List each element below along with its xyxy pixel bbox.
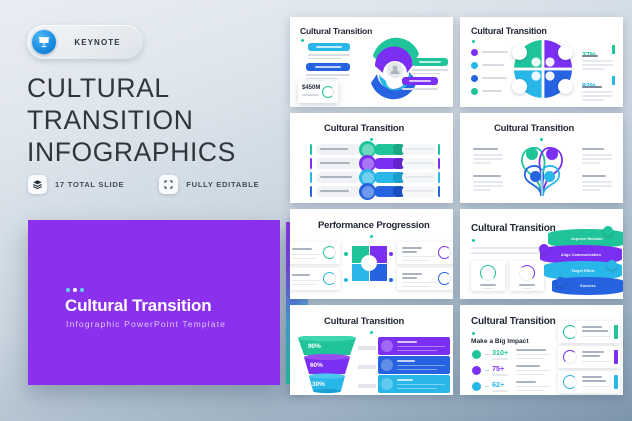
row-tick-2 (310, 158, 312, 169)
funnel-card-2 (378, 356, 450, 374)
layer-chip-icon-4 (556, 277, 566, 287)
slide-thumb-swoosh[interactable]: Cultural Transition (290, 17, 453, 107)
stat-label-3 (516, 381, 536, 383)
perf-ring-4 (438, 272, 451, 285)
petal-desc-2b (582, 158, 612, 160)
stat-unit-3 (492, 390, 508, 392)
home-icon (526, 148, 538, 160)
pill-text-1 (316, 46, 342, 48)
stat-dash-1 (485, 354, 489, 355)
perf-desc-2a (292, 280, 320, 281)
legend-label-1 (482, 51, 508, 53)
send-icon (530, 171, 541, 182)
perf-desc-1a (292, 254, 320, 255)
perf-desc-2b (292, 284, 316, 285)
accent-dot (472, 40, 475, 43)
stat-desc-3a (516, 386, 550, 387)
slide-title: Cultural Transition (494, 123, 574, 134)
perf-connector-dot-2 (344, 278, 348, 282)
layer-chip-icon-1 (603, 226, 613, 236)
row-tick-end-3 (438, 172, 440, 183)
funnel-arrow-2 (358, 365, 376, 369)
stat-bar-1 (612, 45, 615, 54)
feature-badges: 17 TOTAL SLIDE FULLY EDITABLE (28, 175, 259, 194)
funnel-chart (296, 336, 358, 394)
pill-text-4 (409, 80, 431, 82)
layer-chip-icon-3 (607, 260, 617, 270)
row-tick-4 (310, 186, 312, 197)
stat-label-1 (516, 349, 546, 351)
perf-card-left-2 (290, 268, 340, 290)
legend-label-3 (482, 77, 507, 79)
petal-title-4 (582, 175, 606, 177)
stat-dash-3 (485, 386, 489, 387)
legend-dot-3 (471, 75, 478, 82)
impact-label-3a (582, 376, 602, 378)
impact-ring-2 (563, 350, 577, 364)
row-label-1 (320, 148, 348, 150)
kpi-ring (322, 86, 334, 98)
petal-desc-3a (473, 181, 503, 183)
hero-title: Cultural Transition (65, 296, 211, 316)
hero-subtitle: Infographic PowerPoint Template (66, 319, 226, 329)
petal-tree-diagram (512, 140, 572, 198)
stat-label-2 (516, 365, 540, 367)
row-icon-inner-4 (362, 186, 374, 198)
stat-desc-2b (516, 374, 544, 375)
row-icon-inner-1 (362, 144, 374, 156)
perf-card-right-2 (397, 268, 453, 290)
accent-dot (370, 235, 373, 238)
petal-desc-4a (582, 181, 612, 183)
keynote-app-icon (32, 30, 56, 54)
perf-connector-dot-1 (344, 252, 348, 256)
row-tick-end-2 (438, 158, 440, 169)
impact-sub-2 (582, 361, 610, 362)
slide-thumbnail-grid: Cultural Transition (290, 17, 624, 401)
perf-card-left-1 (290, 242, 340, 264)
funnel-card-label-3 (397, 379, 413, 381)
funnel-value-2: 60% (310, 362, 323, 369)
perf-desc-1b (292, 258, 316, 259)
row-desc-1 (404, 148, 434, 150)
stat-unit-1 (492, 358, 508, 360)
stat-bar-2 (612, 76, 615, 85)
body-text-2 (471, 252, 539, 254)
perf-label-4a (402, 273, 422, 275)
row-icon-inner-2 (362, 158, 374, 170)
impact-label-3b (582, 380, 606, 382)
feature-editable: FULLY EDITABLE (159, 175, 259, 194)
gauge-sub-2 (522, 288, 532, 289)
slide-row-1: Cultural Transition (290, 17, 624, 107)
row-label-2 (320, 162, 350, 164)
perf-card-right-1 (397, 242, 453, 264)
send-icon (472, 382, 481, 391)
row-desc-4 (404, 190, 434, 192)
page-title: CULTURAL TRANSITION INFOGRAPHICS (27, 72, 277, 168)
globe-icon (472, 350, 481, 359)
impact-tab-2 (614, 350, 618, 364)
petal-label-4 (582, 175, 606, 177)
caption-1b (308, 58, 342, 60)
stat-desc-3b (516, 390, 544, 391)
feature-editable-label: FULLY EDITABLE (186, 180, 259, 189)
impact-sub-3 (582, 386, 610, 387)
row-tick-end-1 (438, 144, 440, 155)
slide-thumb-chevron-list[interactable]: Cultural Transition (290, 113, 453, 203)
stat-label-1 (582, 55, 598, 57)
stat-dash-2 (485, 370, 489, 371)
stat-desc-1b (516, 358, 544, 359)
funnel-arrow-1 (358, 346, 376, 350)
pill-text-3 (419, 61, 441, 63)
perf-desc-3a (402, 256, 436, 257)
stat-value-3: 62+ (492, 380, 504, 389)
hero-cover-card: Cultural Transition Infographic PowerPoi… (28, 220, 280, 385)
slide-thumb-quad-pie[interactable]: Cultural Transition (460, 17, 623, 107)
stat-desc-1c (582, 68, 604, 70)
stat-desc-2a (516, 370, 550, 371)
petal-title-1 (473, 148, 498, 150)
funnel-card-desc-1a (397, 346, 445, 347)
petal-desc-1b (473, 158, 503, 160)
legend-dot-4 (471, 88, 478, 95)
quad-value-ring-3 (512, 79, 527, 94)
feature-slide-count: 17 TOTAL SLIDE (28, 175, 124, 194)
gauge-ring-1 (480, 265, 496, 281)
stat-desc-2b (582, 95, 613, 97)
gauge-label-1 (480, 284, 496, 286)
slide-thumb-impact[interactable]: Cultural Transition Make a Big Impact 31… (460, 305, 623, 395)
accent-dot (301, 39, 304, 42)
petal-label-1 (473, 148, 498, 150)
stat-value-1: 310+ (492, 348, 508, 357)
stat-block-2: 92% (582, 75, 596, 93)
target-icon (381, 340, 393, 352)
perf-ring-3 (438, 246, 451, 259)
slide-thumb-petal-tree[interactable]: Cultural Transition (460, 113, 623, 203)
row-tick-end-4 (438, 186, 440, 197)
stat-desc-2c (582, 99, 604, 101)
body-text-1 (471, 247, 543, 249)
funnel-card-desc-3b (397, 388, 437, 389)
perf-label-2 (292, 274, 310, 276)
promo-panel: KEYNOTE CULTURAL TRANSITION INFOGRAPHICS… (0, 0, 290, 421)
slide-row-4: Cultural Transition 90% 60% 30% (290, 305, 624, 395)
caption-2b (306, 78, 338, 80)
funnel-card-desc-3a (397, 384, 445, 385)
send-icon (381, 359, 393, 371)
impact-label-2a (582, 351, 604, 353)
slide-thumb-performance[interactable]: Performance Progression (290, 209, 453, 299)
funnel-card-desc-2b (397, 369, 437, 370)
impact-card-2 (558, 346, 620, 368)
hero-dots-decoration (66, 288, 84, 292)
keynote-badge-label: KEYNOTE (56, 38, 143, 47)
petal-label-2 (582, 148, 604, 150)
layer-chip-icon-2 (539, 244, 549, 254)
feature-slide-count-label: 17 TOTAL SLIDE (55, 180, 124, 189)
stat-unit-2 (492, 374, 508, 376)
title-line-3: INFOGRAPHICS (27, 136, 277, 168)
row-label-3 (320, 176, 352, 178)
slide-title: Cultural Transition (471, 26, 547, 36)
impact-ring-1 (563, 325, 577, 339)
funnel-card-3 (378, 375, 450, 393)
gauge-card-2 (510, 261, 544, 291)
petal-title-2 (582, 148, 604, 150)
layers-stack-icon (28, 175, 47, 194)
legend-label-4 (482, 90, 502, 92)
slide-row-3: Performance Progression (290, 209, 624, 299)
impact-label-2b (582, 355, 600, 357)
accent-dot (370, 331, 373, 334)
keynote-badge: KEYNOTE (27, 25, 143, 59)
petal-desc-3b (473, 185, 503, 187)
impact-tab-3 (614, 375, 618, 389)
impact-sub-1 (582, 336, 610, 337)
stat-desc-1b (582, 64, 613, 66)
petal-desc-4c (582, 189, 600, 191)
caption-4a (402, 88, 438, 90)
quad-value-ring-4 (558, 79, 573, 94)
funnel-card-desc-2a (397, 365, 445, 366)
impact-tab-1 (614, 325, 618, 339)
row-desc-3 (404, 176, 434, 178)
perf-desc-4b (402, 286, 430, 287)
perf-label-4b (402, 277, 417, 279)
slide-title: Cultural Transition (471, 316, 556, 327)
stat-block-1: 27% (582, 44, 596, 62)
stat-value-2: 75+ (492, 364, 504, 373)
refresh-icon (381, 378, 393, 390)
kpi-value: $450M (302, 85, 320, 91)
petal-desc-4b (582, 185, 612, 187)
slide-thumb-stacked-layers[interactable]: Cultural Transition Improve Relation Ali… (460, 209, 623, 299)
row-desc-2 (404, 162, 434, 164)
perf-ring-2 (323, 272, 336, 285)
petal-desc-2c (582, 162, 600, 164)
petal-title-3 (473, 175, 501, 177)
gauge-ring-2 (519, 265, 535, 281)
funnel-value-1: 90% (308, 343, 321, 350)
slide-thumb-funnel[interactable]: Cultural Transition 90% 60% 30% (290, 305, 453, 395)
petal-desc-2a (582, 154, 612, 156)
perf-desc-4a (402, 282, 436, 283)
perf-desc-3b (402, 260, 430, 261)
kpi-caption (302, 94, 319, 96)
perf-center-hub (361, 255, 377, 271)
perf-ring-1 (323, 246, 336, 259)
stat-label-2 (582, 86, 602, 88)
gauge-label-2 (519, 284, 535, 286)
perf-connector-dot-4 (389, 278, 393, 282)
impact-card-1 (558, 321, 620, 343)
slide-title: Performance Progression (318, 220, 430, 231)
petal-desc-3c (473, 189, 491, 191)
impact-subtitle: Make a Big Impact (471, 338, 529, 345)
funnel-card-desc-1b (397, 350, 437, 351)
slide-title: Cultural Transition (471, 223, 556, 234)
slide-title: Cultural Transition (324, 316, 404, 327)
caption-3b (412, 73, 440, 75)
slide-title: Cultural Transition (324, 123, 404, 134)
pie-chart-icon (546, 148, 558, 160)
impact-card-3 (558, 371, 620, 393)
monitor-icon (544, 171, 555, 182)
stat-desc-2a (582, 91, 613, 93)
legend-label-2 (482, 64, 504, 66)
funnel-card-1 (378, 337, 450, 355)
gauge-card-1 (471, 261, 505, 291)
impact-label-1b (582, 330, 608, 332)
funnel-card-label-1 (397, 341, 417, 343)
petal-label-3 (473, 175, 501, 177)
row-label-4 (320, 190, 349, 192)
accent-dot (472, 332, 475, 335)
stat-desc-1a (582, 60, 613, 62)
funnel-value-3: 30% (312, 381, 325, 388)
funnel-arrow-3 (358, 384, 376, 388)
impact-label-1a (582, 326, 602, 328)
petal-desc-1a (473, 154, 503, 156)
stat-desc-1a (516, 354, 550, 355)
impact-ring-3 (563, 375, 577, 389)
perf-connector-dot-3 (389, 252, 393, 256)
kpi-card: $450M (298, 81, 338, 103)
resize-frame-icon (159, 175, 178, 194)
caption-1a (308, 54, 350, 56)
perf-label-3b (402, 251, 417, 253)
accent-dot (472, 239, 475, 242)
quad-value-ring-1 (512, 45, 527, 60)
row-icon-inner-3 (362, 172, 374, 184)
legend-dot-2 (471, 62, 478, 69)
gauge-sub-1 (483, 288, 493, 289)
slide-row-2: Cultural Transition (290, 113, 624, 203)
caption-3a (412, 69, 448, 71)
title-line-2: TRANSITION (27, 104, 277, 136)
funnel-card-label-2 (397, 360, 415, 362)
legend-dot-1 (471, 49, 478, 56)
row-tick-1 (310, 144, 312, 155)
perf-label-1 (292, 248, 312, 250)
row-tick-3 (310, 172, 312, 183)
title-line-1: CULTURAL (27, 72, 277, 104)
caption-2a (306, 74, 350, 76)
pill-text-2 (315, 66, 341, 68)
perf-label-3a (402, 247, 422, 249)
building-icon (472, 366, 481, 375)
quad-value-ring-2 (558, 45, 573, 60)
petal-desc-1c (473, 162, 491, 164)
